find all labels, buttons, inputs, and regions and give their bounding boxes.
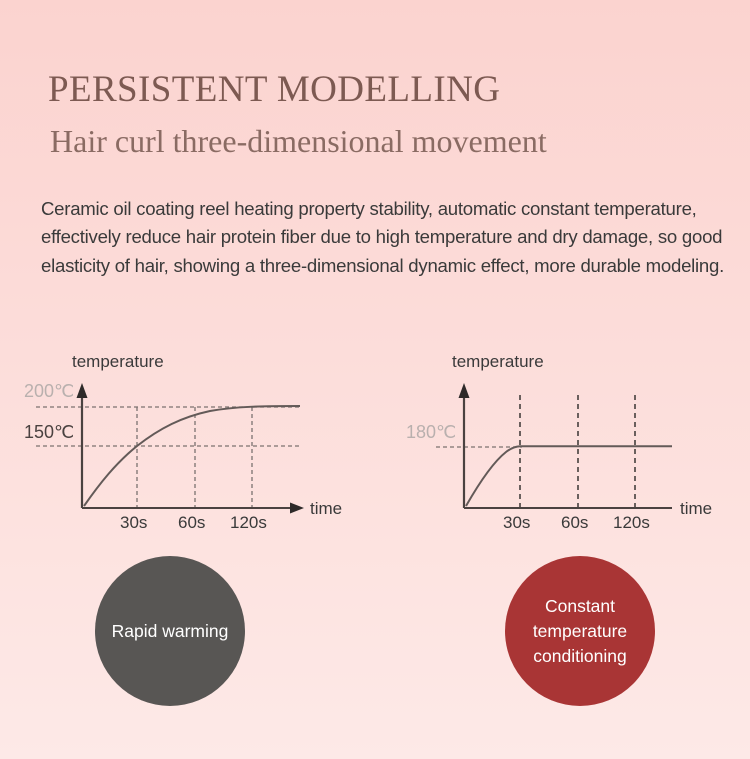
ytick-150c: 150℃ <box>24 422 74 442</box>
ytick-200c: 200℃ <box>24 381 74 401</box>
badge-constant-temperature-label: Constant temperature conditioning <box>505 594 655 669</box>
page-title: PERSISTENT MODELLING <box>48 68 738 112</box>
xtick-120s: 120s <box>230 513 267 532</box>
page-subtitle: Hair curl three-dimensional movement <box>50 121 738 161</box>
y-axis-label: temperature <box>72 352 164 371</box>
temperature-curve <box>84 406 300 506</box>
chart-constant-temperature: temperature time 180℃ 30s 60s 120s <box>400 345 745 535</box>
infographic-page: PERSISTENT MODELLING Hair curl three-dim… <box>0 0 750 759</box>
xtick-30s: 30s <box>120 513 147 532</box>
xtick-60s: 60s <box>178 513 205 532</box>
badge-rapid-warming: Rapid warming <box>95 556 245 706</box>
xtick-30s: 30s <box>503 513 530 532</box>
y-axis-arrow <box>77 383 88 398</box>
x-axis-label: time <box>310 499 342 518</box>
description-paragraph: Ceramic oil coating reel heating propert… <box>41 195 741 281</box>
x-axis-label: time <box>680 499 712 518</box>
heading-block: PERSISTENT MODELLING Hair curl three-dim… <box>48 68 738 161</box>
y-axis-label: temperature <box>452 352 544 371</box>
badge-constant-temperature: Constant temperature conditioning <box>505 556 655 706</box>
xtick-120s: 120s <box>613 513 650 532</box>
temperature-curve <box>466 446 672 506</box>
xtick-60s: 60s <box>561 513 588 532</box>
y-axis-arrow <box>459 383 470 398</box>
badge-rapid-warming-label: Rapid warming <box>98 620 243 643</box>
x-axis-arrow <box>290 503 304 514</box>
ytick-180c: 180℃ <box>406 422 456 442</box>
chart-rapid-warming: temperature time 200℃ 150℃ 30s 60s 120s <box>10 345 350 535</box>
